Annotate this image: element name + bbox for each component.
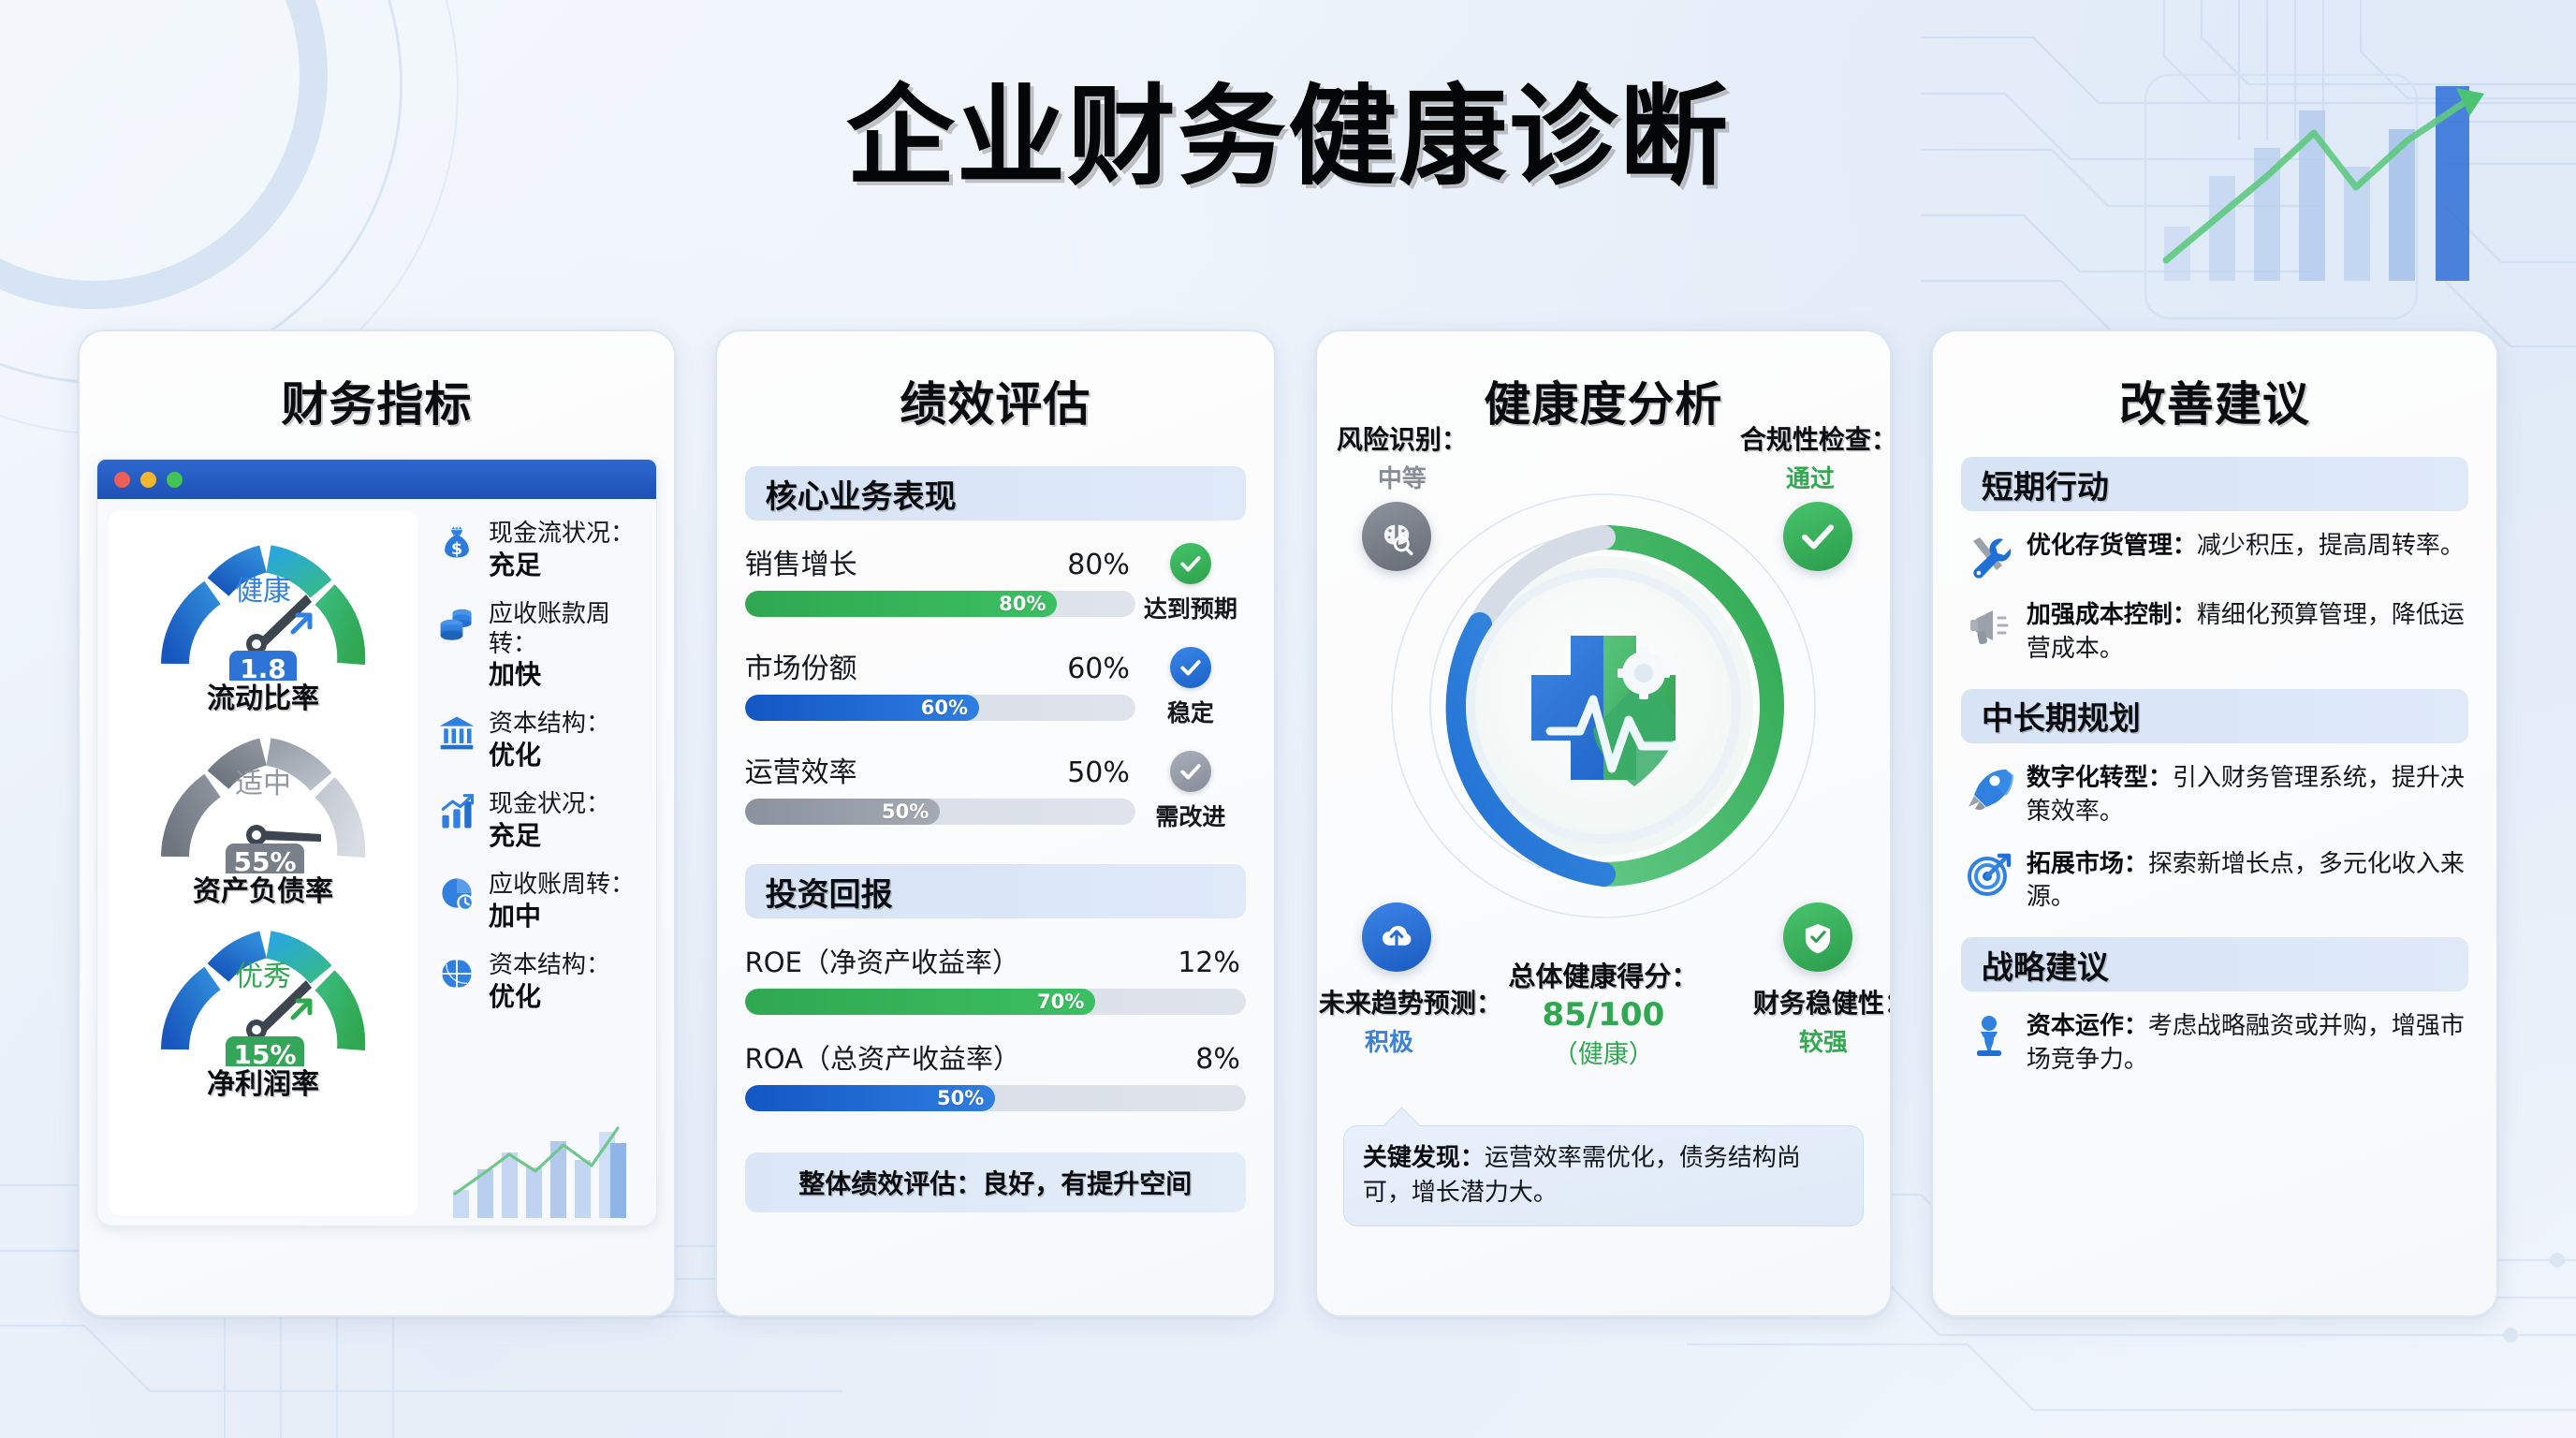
overall-health-score: 总体健康得分： 85/100 （健康）	[1317, 955, 1890, 1070]
cards-container: 财务指标	[78, 330, 2498, 1317]
roi-row-roa: ROA（总资产收益率） 8% 50%	[745, 1037, 1246, 1111]
row1-name: 销售增长	[745, 541, 857, 582]
page-title: 企业财务健康诊断	[0, 49, 2576, 206]
row2-status: 稳定	[1135, 695, 1246, 728]
gauge3-label: 净利润率	[207, 1061, 319, 1102]
health-diagram: 风险识别： 中等 合规性检查： 通过	[1317, 434, 1890, 1240]
corner-risk-identification: 风险识别： 中等	[1332, 419, 1472, 494]
score-value: 85/100	[1317, 996, 1890, 1034]
globe-icon	[436, 953, 477, 994]
metric1-value: 充足	[489, 550, 635, 581]
metric5-key: 应收账周转：	[489, 871, 635, 901]
metric2-value: 加快	[489, 659, 645, 691]
gauge-column: 健康 1.8 流动比率	[109, 510, 417, 1216]
advice-cost-control: 加强成本控制：精细化预算管理，降低运营成本。	[1965, 599, 2468, 667]
card4-title: 改善建议	[1933, 367, 2496, 434]
corner1-value: 中等	[1332, 460, 1472, 494]
metric-receivables-turnover: 应收账款周转： 加快	[436, 600, 645, 692]
gauge2-status: 适中	[235, 768, 291, 800]
bar-chart-icon	[436, 792, 477, 833]
roa-progress-fill: 50%	[745, 1085, 996, 1111]
corner-compliance-check: 合规性检查： 通过	[1740, 419, 1881, 494]
metric1-key: 现金流状况：	[489, 520, 635, 550]
score-sub: （健康）	[1317, 1034, 1890, 1070]
metric-receivables-cycle: 应收账周转： 加中	[436, 871, 645, 932]
roa-pct: 8%	[1195, 1043, 1240, 1076]
advice1-text: 减少积压，提高周转率。	[2197, 532, 2465, 560]
gauge1-label: 流动比率	[207, 675, 319, 716]
pie-clock-icon	[436, 873, 477, 914]
advice-market-expansion: 拓展市场：探索新增长点，多元化收入来源。	[1965, 848, 2468, 916]
section-investment-return: 投资回报	[745, 864, 1246, 918]
advice3-bold: 数字化转型：	[2027, 764, 2173, 792]
metric6-value: 优化	[489, 981, 610, 1013]
row3-progress-track: 50%	[745, 799, 1135, 825]
chess-pawn-icon	[1965, 1012, 2013, 1061]
metric-capital-structure-1: 资本结构： 优化	[436, 710, 645, 771]
corner2-value: 通过	[1740, 460, 1881, 494]
browser-titlebar	[97, 460, 656, 499]
card-improvement-suggestions: 改善建议 短期行动 优化存货管理：减少积压，提高周转率。	[1931, 330, 2498, 1317]
wrench-icon	[1965, 532, 2013, 580]
gauge2-label: 资产负债率	[193, 868, 333, 909]
row3-pct: 50%	[1067, 756, 1130, 789]
perf-row-market-share: 市场份额 60% 60% 稳定	[745, 645, 1246, 728]
metric5-value: 加中	[489, 901, 635, 932]
target-icon	[1965, 850, 2013, 899]
advice4-bold: 拓展市场：	[2027, 850, 2148, 878]
metric3-value: 优化	[489, 740, 610, 771]
roi-rows: ROE（净资产收益率） 12% 70% ROA（总资产收益率） 8% 50%	[717, 941, 1274, 1111]
gauge-net-margin: 优秀 15% 净利润率	[146, 909, 380, 1102]
metrics-column: $ 现金流状况： 充足	[417, 499, 656, 1226]
money-bag-icon: $	[436, 521, 477, 563]
core-business-rows: 销售增长 80% 80% 达到预期 市场份额	[717, 541, 1274, 832]
overall-performance-summary: 整体绩效评估：良好，有提升空间	[745, 1152, 1246, 1212]
key-finding-label: 关键发现：	[1363, 1144, 1485, 1172]
health-rings	[1383, 486, 1823, 926]
check-circle-green-icon	[1170, 543, 1211, 584]
advice-capital-operation: 资本运作：考虑战略融资或并购，增强市场竞争力。	[1965, 1010, 2468, 1078]
mini-trend-chart	[449, 1100, 651, 1222]
window-maximize-dot[interactable]	[167, 472, 183, 488]
card1-title: 财务指标	[80, 367, 674, 434]
gauge-debt-ratio: 适中 55% 资产负债率	[146, 716, 380, 909]
megaphone-icon	[1965, 601, 2013, 650]
key-finding-callout: 关键发现：运营效率需优化，债务结构尚可，增长潜力大。	[1343, 1125, 1864, 1226]
section-strategy: 战略建议	[1961, 937, 2468, 991]
roa-progress-track: 50%	[745, 1085, 1246, 1111]
roa-name: ROA（总资产收益率）	[745, 1037, 1020, 1077]
metric-cashflow: $ 现金流状况： 充足	[436, 520, 645, 581]
section-mid-long-term: 中长期规划	[1961, 689, 2468, 743]
window-minimize-dot[interactable]	[140, 472, 156, 488]
row3-status: 需改进	[1135, 799, 1246, 832]
roe-progress-track: 70%	[745, 989, 1246, 1015]
card2-title: 绩效评估	[717, 367, 1274, 434]
metric6-key: 资本结构：	[489, 951, 610, 981]
row2-name: 市场份额	[745, 645, 857, 686]
check-icon	[1783, 502, 1852, 571]
window-close-dot[interactable]	[114, 472, 130, 488]
row1-progress-track: 80%	[745, 591, 1135, 617]
row2-progress-fill: 60%	[745, 695, 979, 721]
card-performance-evaluation: 绩效评估 核心业务表现 销售增长 80% 80% 达到预期	[715, 330, 1276, 1317]
gauge1-status: 健康	[235, 575, 291, 608]
rocket-icon	[1965, 764, 2013, 813]
section-core-business: 核心业务表现	[745, 466, 1246, 521]
bank-icon	[436, 712, 477, 753]
metric2-key: 应收账款周转：	[489, 600, 645, 659]
advice5-bold: 资本运作：	[2027, 1012, 2148, 1040]
row1-progress-fill: 80%	[745, 591, 1058, 617]
corner2-key: 合规性检查：	[1740, 419, 1881, 457]
check-circle-blue-icon	[1170, 647, 1211, 688]
row2-pct: 60%	[1067, 653, 1130, 685]
advice-digital-transformation: 数字化转型：引入财务管理系统，提升决策效率。	[1965, 762, 2468, 829]
metric-cash-position: 现金状况： 充足	[436, 790, 645, 852]
svg-text:$: $	[451, 540, 462, 559]
metric4-value: 充足	[489, 820, 610, 852]
check-circle-gray-icon	[1170, 751, 1211, 792]
perf-row-sales-growth: 销售增长 80% 80% 达到预期	[745, 541, 1246, 624]
score-key: 总体健康得分：	[1317, 955, 1890, 994]
card-financial-indicators: 财务指标	[78, 330, 676, 1317]
row2-progress-track: 60%	[745, 695, 1135, 721]
section-short-term: 短期行动	[1961, 457, 2468, 511]
gauge-current-ratio: 健康 1.8 流动比率	[146, 523, 380, 716]
advice-optimize-inventory: 优化存货管理：减少积压，提高周转率。	[1965, 530, 2468, 580]
advice2-bold: 加强成本控制：	[2027, 601, 2197, 629]
advice-groups: 短期行动 优化存货管理：减少积压，提高周转率。	[1933, 457, 2496, 1087]
row3-name: 运营效率	[745, 749, 857, 790]
roe-progress-fill: 70%	[745, 989, 1096, 1015]
metric4-key: 现金状况：	[489, 790, 610, 820]
metric-capital-structure-2: 资本结构： 优化	[436, 951, 645, 1013]
row3-progress-fill: 50%	[745, 799, 941, 825]
row1-pct: 80%	[1067, 549, 1130, 581]
coins-stack-icon	[436, 602, 477, 643]
metric3-key: 资本结构：	[489, 710, 610, 740]
roe-name: ROE（净资产收益率）	[745, 941, 1019, 980]
card-health-analysis: 健康度分析	[1315, 330, 1892, 1317]
roi-row-roe: ROE（净资产收益率） 12% 70%	[745, 941, 1246, 1015]
row1-status: 达到预期	[1135, 591, 1246, 624]
perf-row-operating-efficiency: 运营效率 50% 50% 需改进	[745, 749, 1246, 832]
brain-scan-icon	[1362, 502, 1431, 571]
gauge3-status: 优秀	[235, 961, 291, 993]
browser-content: 健康 1.8 流动比率	[97, 499, 656, 1226]
browser-mock: 健康 1.8 流动比率	[96, 459, 657, 1226]
advice1-bold: 优化存货管理：	[2027, 532, 2197, 560]
roe-pct: 12%	[1178, 946, 1240, 979]
corner1-key: 风险识别：	[1332, 419, 1472, 457]
